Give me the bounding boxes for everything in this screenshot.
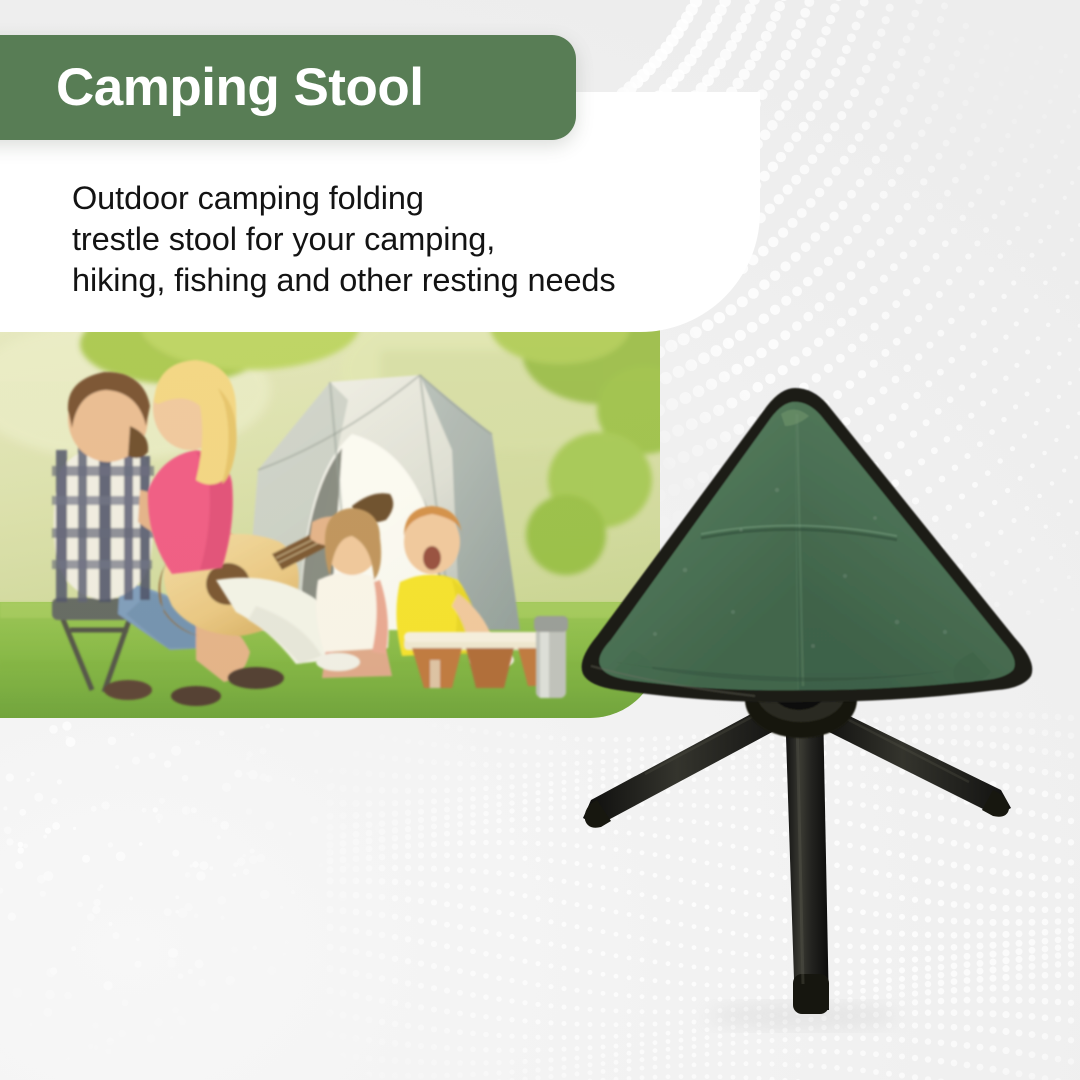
description-line-2: trestle stool for your camping, [72,219,732,260]
title-banner: Camping Stool [0,35,576,140]
product-description: Outdoor camping folding trestle stool fo… [72,178,732,301]
product-banner-canvas: Camping Stool Outdoor camping folding tr… [0,0,1080,1080]
description-line-3: hiking, fishing and other resting needs [72,260,732,301]
description-line-1: Outdoor camping folding [72,178,732,219]
page-title: Camping Stool [56,61,423,114]
product-image-camping-stool [545,370,1065,1050]
